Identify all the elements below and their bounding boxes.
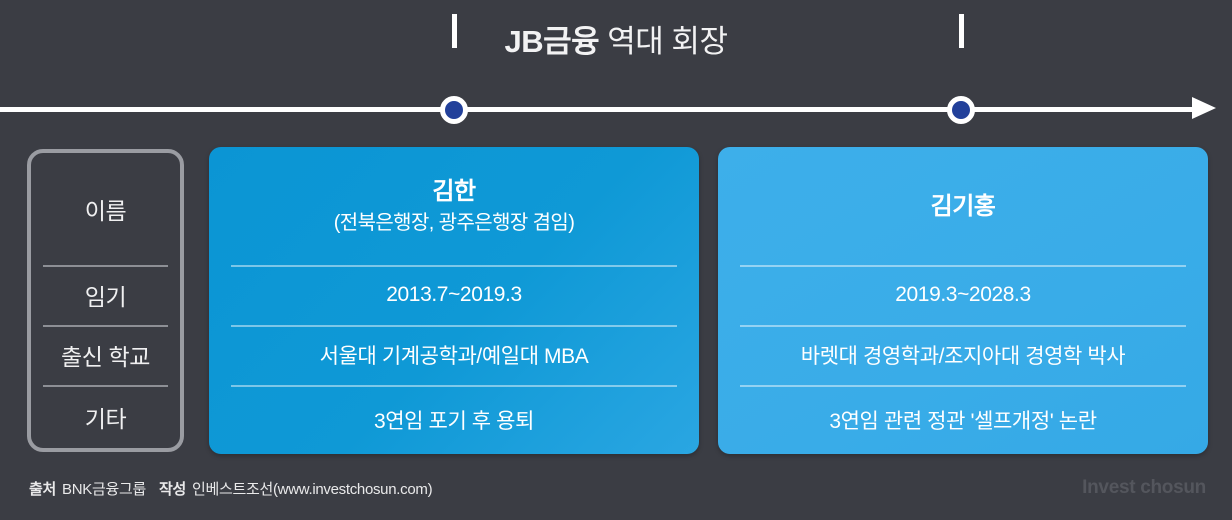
legend-label-term: 임기 <box>85 278 127 312</box>
card-1-name-row: 김한 (전북은행장, 광주은행장 겸임) <box>209 147 699 265</box>
timeline-node-1[interactable] <box>440 96 468 124</box>
source-label: 출처 <box>29 481 56 498</box>
card-2-term: 2019.3~2028.3 <box>895 283 1031 307</box>
brand-logo: Invest chosun <box>1082 477 1206 499</box>
chairman-card-1[interactable]: 김한 (전북은행장, 광주은행장 겸임) 2013.7~2019.3 서울대 기… <box>209 147 699 454</box>
card-2-etc: 3연임 관련 정관 '셀프개정' 논란 <box>829 405 1096 435</box>
author-label: 작성 <box>159 481 186 498</box>
page-title-light: 역대 회장 <box>599 24 727 59</box>
page-title-strong: JB금융 <box>505 24 600 59</box>
chairman-card-2[interactable]: 김기홍 2019.3~2028.3 바렛대 경영학과/조지아대 경영학 박사 3… <box>718 147 1208 454</box>
source-value: BNK금융그룹 <box>62 481 146 498</box>
card-1-term-row: 2013.7~2019.3 <box>209 265 699 325</box>
legend-row-etc: 기타 <box>31 385 180 448</box>
author-value: 인베스트조선(www.investchosun.com) <box>192 481 432 498</box>
timeline-connector-2 <box>959 14 964 48</box>
card-1-etc: 3연임 포기 후 용퇴 <box>374 405 534 435</box>
arrow-right-icon <box>1192 97 1216 119</box>
card-2-school: 바렛대 경영학과/조지아대 경영학 박사 <box>801 340 1125 370</box>
timeline-connector-1 <box>452 14 457 48</box>
card-2-term-row: 2019.3~2028.3 <box>718 265 1208 325</box>
timeline-axis <box>0 105 1232 113</box>
infographic-canvas: { "header": { "title_strong": "JB금융", "t… <box>0 0 1232 520</box>
card-1-school-row: 서울대 기계공학과/예일대 MBA <box>209 325 699 385</box>
legend-label-name: 이름 <box>85 192 127 226</box>
card-1-term: 2013.7~2019.3 <box>386 283 522 307</box>
card-2-name-row: 김기홍 <box>718 147 1208 265</box>
timeline-line <box>0 107 1196 112</box>
legend-row-term: 임기 <box>31 265 180 325</box>
legend-label-etc: 기타 <box>85 400 127 434</box>
timeline-node-2[interactable] <box>947 96 975 124</box>
card-2-etc-row: 3연임 관련 정관 '셀프개정' 논란 <box>718 385 1208 454</box>
footer-credits: 출처BNK금융그룹작성인베스트조선(www.investchosun.com) <box>29 478 432 499</box>
page-title: JB금융 역대 회장 <box>0 22 1232 62</box>
card-1-subtitle: (전북은행장, 광주은행장 겸임) <box>334 208 575 238</box>
card-1-name: 김한 <box>432 175 475 208</box>
card-1-school: 서울대 기계공학과/예일대 MBA <box>320 340 589 370</box>
card-2-school-row: 바렛대 경영학과/조지아대 경영학 박사 <box>718 325 1208 385</box>
legend-box: 이름 임기 출신 학교 기타 <box>27 149 184 452</box>
card-2-name: 김기홍 <box>931 190 996 223</box>
legend-row-school: 출신 학교 <box>31 325 180 385</box>
legend-label-school: 출신 학교 <box>61 338 150 372</box>
card-1-etc-row: 3연임 포기 후 용퇴 <box>209 385 699 454</box>
legend-row-name: 이름 <box>31 153 180 265</box>
